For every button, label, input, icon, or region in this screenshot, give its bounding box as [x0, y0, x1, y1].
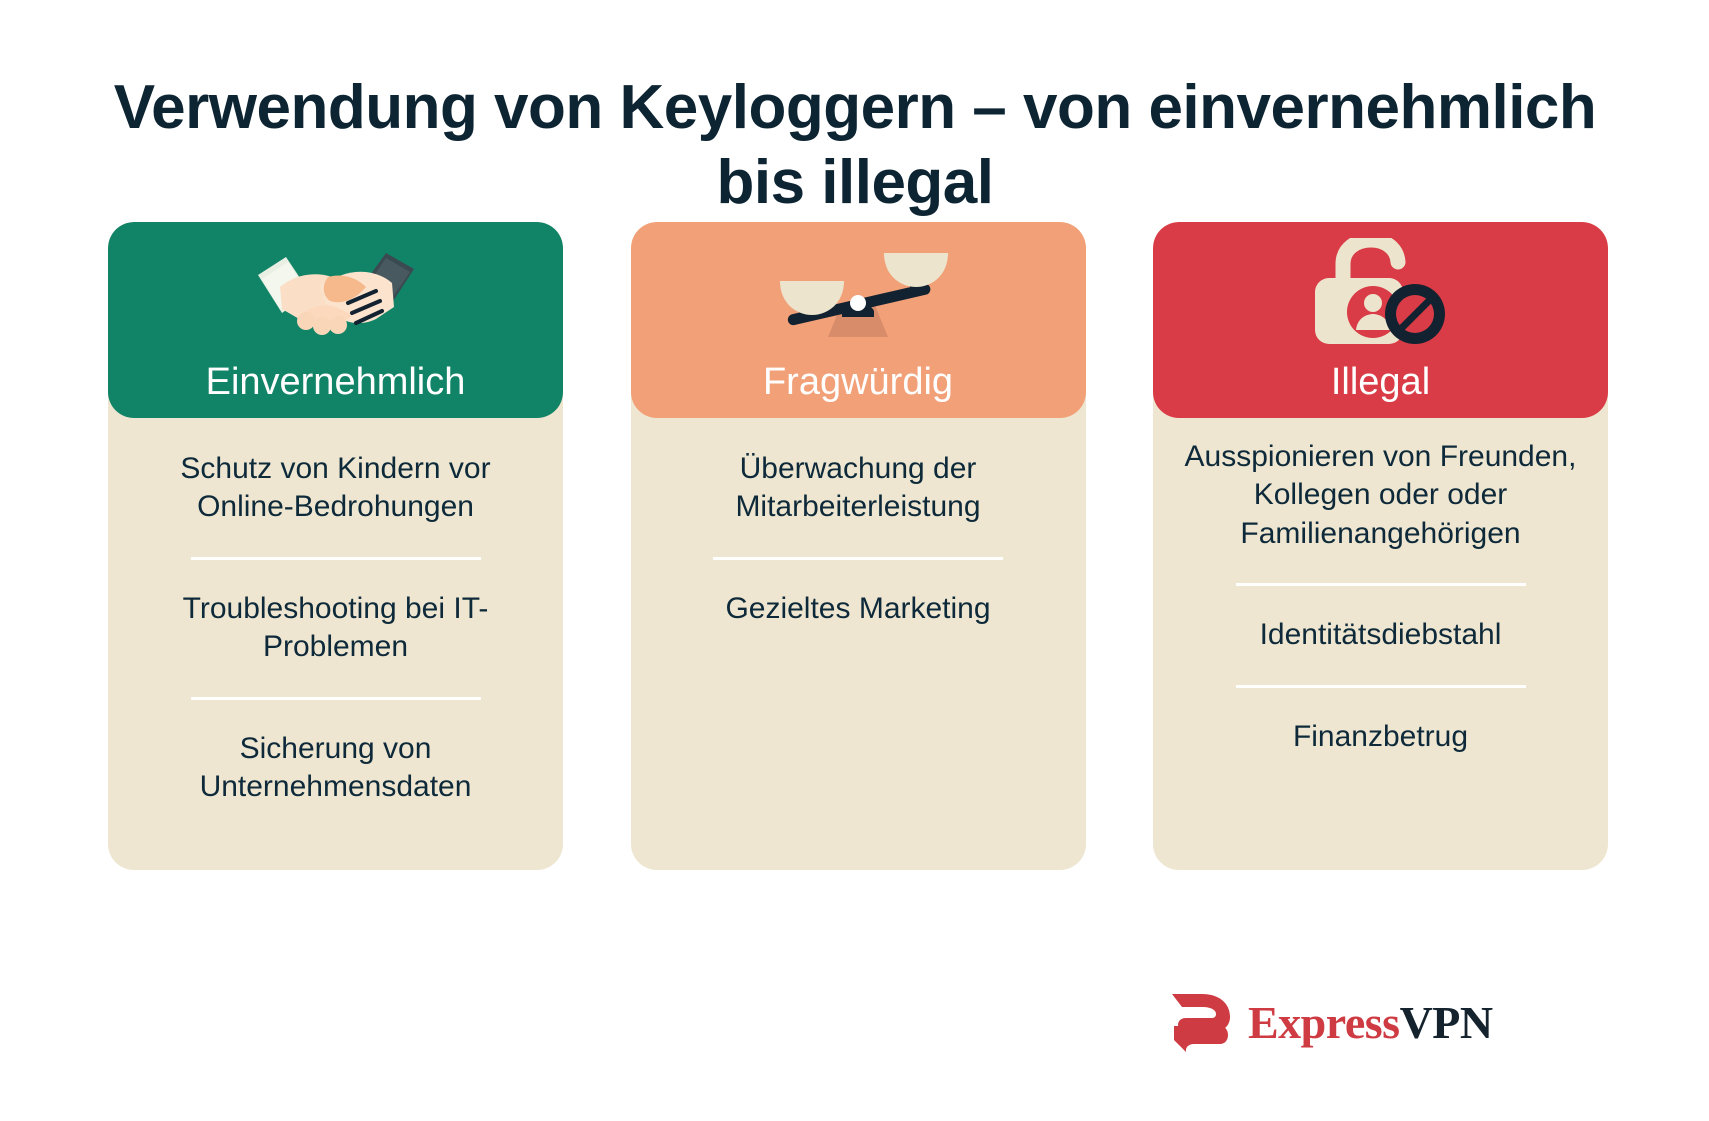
list-item: Überwachung der Mitarbeiterleistung: [653, 446, 1064, 531]
card-body-einvernehmlich: Schutz von Kindern vor Online-Bedrohunge…: [108, 418, 563, 854]
item-divider: [1236, 583, 1526, 586]
logo-vpn-text: VPN: [1400, 997, 1493, 1048]
list-item: Troubleshooting bei IT-Problemen: [130, 586, 541, 671]
unlocked-padlock-prohibited-icon: [1153, 238, 1608, 348]
list-item: Finanzbetrug: [1293, 714, 1468, 760]
page-title: Verwendung von Keyloggern – von einverne…: [90, 70, 1620, 221]
list-item: Identitätsdiebstahl: [1260, 612, 1502, 658]
list-item: Ausspionieren von Freunden, Kollegen ode…: [1175, 434, 1586, 557]
cards-row: Einvernehmlich Schutz von Kindern vor On…: [108, 222, 1608, 870]
card-illegal: Illegal Ausspionieren von Freunden, Koll…: [1153, 222, 1608, 870]
handshake-icon: [108, 238, 563, 348]
card-einvernehmlich: Einvernehmlich Schutz von Kindern vor On…: [108, 222, 563, 870]
card-body-illegal: Ausspionieren von Freunden, Kollegen ode…: [1153, 418, 1608, 804]
list-item: Gezieltes Marketing: [725, 586, 990, 632]
card-header-einvernehmlich: Einvernehmlich: [108, 222, 563, 418]
card-label-illegal: Illegal: [1331, 362, 1430, 404]
card-fragwuerdig: Fragwürdig Überwachung der Mitarbeiterle…: [631, 222, 1086, 870]
card-header-illegal: Illegal: [1153, 222, 1608, 418]
card-header-fragwuerdig: Fragwürdig: [631, 222, 1086, 418]
item-divider: [191, 557, 481, 560]
logo-express-text: Express: [1248, 997, 1400, 1048]
balance-scale-icon: [631, 238, 1086, 348]
card-body-fragwuerdig: Überwachung der Mitarbeiterleistung Gezi…: [631, 418, 1086, 676]
infographic-page: Verwendung von Keyloggern – von einverne…: [0, 0, 1709, 1121]
expressvpn-logo: ExpressVPN: [1168, 992, 1493, 1054]
list-item: Schutz von Kindern vor Online-Bedrohunge…: [130, 446, 541, 531]
logo-wordmark: ExpressVPN: [1248, 1000, 1493, 1046]
card-label-einvernehmlich: Einvernehmlich: [206, 362, 466, 404]
list-item: Sicherung von Unternehmensdaten: [130, 726, 541, 811]
item-divider: [1236, 685, 1526, 688]
card-label-fragwuerdig: Fragwürdig: [763, 362, 953, 404]
expressvpn-e-mark-icon: [1168, 992, 1234, 1054]
item-divider: [713, 557, 1003, 560]
item-divider: [191, 697, 481, 700]
